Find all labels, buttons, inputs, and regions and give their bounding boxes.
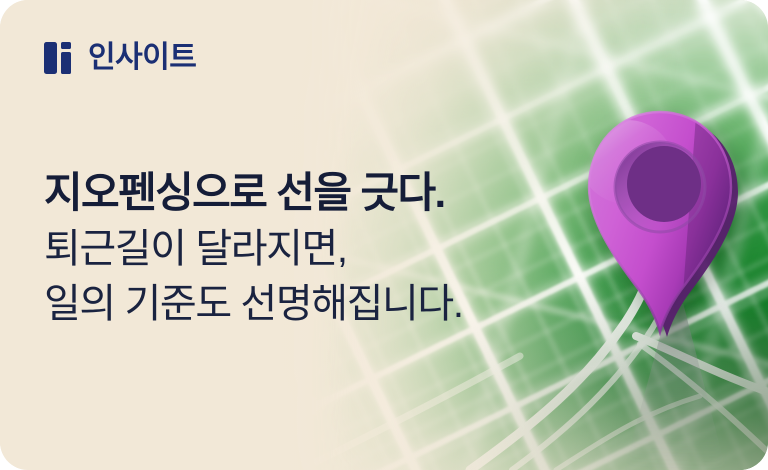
promo-banner: 인사이트 지오펜싱으로 선을 긋다. 퇴근길이 달라지면, 일의 기준도 선명해…	[0, 0, 768, 470]
headline-primary: 지오펜싱으로 선을 긋다.	[44, 168, 644, 218]
headline-secondary-line-1: 퇴근길이 달라지면,	[44, 222, 644, 277]
insight-bar-mark-icon	[44, 40, 74, 76]
headline-block: 지오펜싱으로 선을 긋다. 퇴근길이 달라지면, 일의 기준도 선명해집니다.	[44, 168, 644, 332]
brand-name: 인사이트	[88, 43, 196, 73]
brand-lockup[interactable]: 인사이트	[44, 40, 196, 76]
banner-content: 인사이트 지오펜싱으로 선을 긋다. 퇴근길이 달라지면, 일의 기준도 선명해…	[0, 0, 768, 470]
headline-secondary-line-2: 일의 기준도 선명해집니다.	[44, 277, 644, 332]
